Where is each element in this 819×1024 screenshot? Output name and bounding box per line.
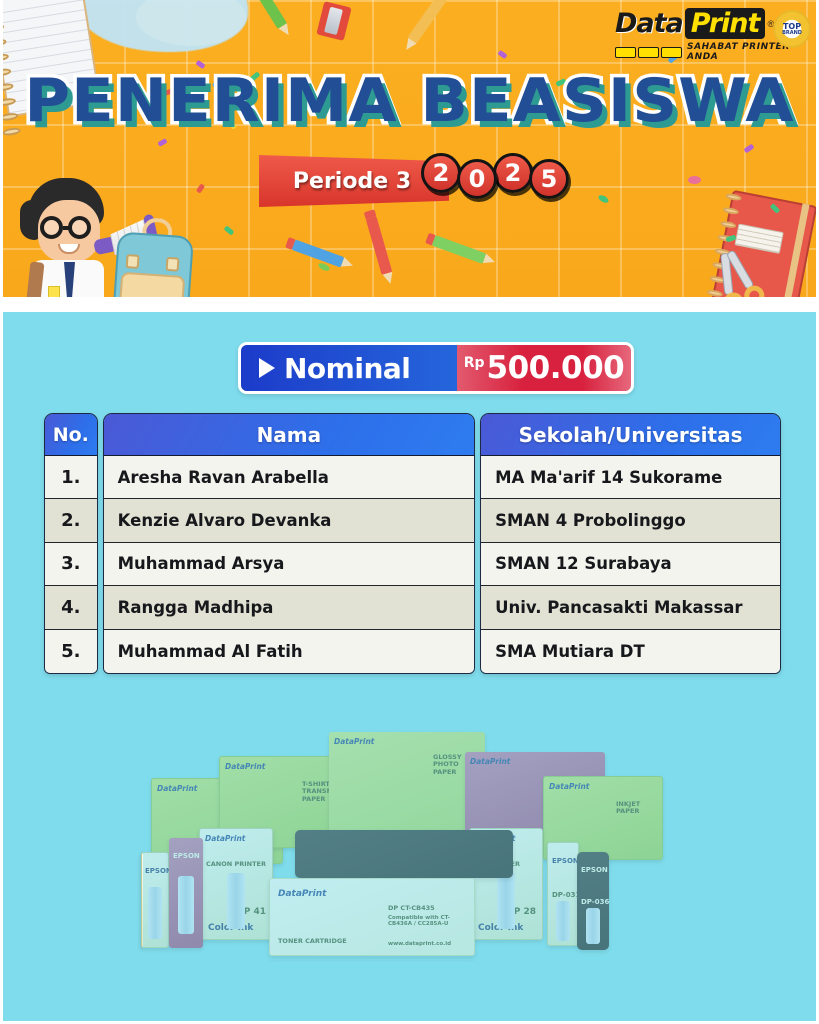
table-row: Univ. Pancasakti Makassar <box>481 586 780 629</box>
table-row: Aresha Ravan Arabella <box>104 456 474 499</box>
product-label: TONER CARTRIDGE <box>278 938 347 945</box>
nominal-amount-section: Rp 500.000 <box>457 345 631 391</box>
column-header-no: No. <box>45 414 97 456</box>
green-pencil-icon <box>247 0 287 29</box>
confetti-icon <box>743 144 754 154</box>
column-header-nama: Nama <box>104 414 474 456</box>
table-column-nama: Nama Aresha Ravan Arabella Kenzie Alvaro… <box>103 413 475 674</box>
logo-data-text: Data <box>615 8 683 39</box>
top-brand-badge-icon: TOP BRAND <box>773 10 811 48</box>
table-row: Muhammad Arsya <box>104 543 474 586</box>
year-digit: 0 <box>457 159 497 199</box>
logo-print-text: Print <box>685 8 766 39</box>
table-row: MA Ma'arif 14 Sukorame <box>481 456 780 499</box>
nominal-label-section: Nominal <box>241 345 457 391</box>
recipients-table: No. 1. 2. 3. 4. 5. Nama Aresha Ravan Ara… <box>44 413 781 674</box>
year-digits: 2 0 2 5 <box>421 153 565 193</box>
product-label: EPSON <box>173 852 200 860</box>
confetti-icon <box>597 194 610 205</box>
product-code: DP-036 <box>581 898 609 906</box>
confetti-icon <box>224 225 235 235</box>
header-divider <box>0 297 819 312</box>
table-row: SMAN 12 Surabaya <box>481 543 780 586</box>
nominal-amount: 500.000 <box>487 350 625 386</box>
period-badge: Periode 3 2 0 2 5 <box>259 153 559 209</box>
product-brand: DataPrint <box>225 762 265 771</box>
table-row: SMAN 4 Probolinggo <box>481 499 780 542</box>
year-digit: 5 <box>529 159 569 199</box>
green-pencil-icon-2 <box>432 235 487 264</box>
currency-symbol: Rp <box>464 355 485 371</box>
nominal-banner: Nominal Rp 500.000 <box>238 342 634 394</box>
scholarship-announcement-poster: PENERIMA BEASISWA Periode 3 2 0 2 5 Data… <box>0 0 819 1024</box>
product-url: www.dataprint.co.id <box>388 941 451 947</box>
dataprint-logo: Data Print ® SAHABAT PRINTER ANDA TOP BR… <box>615 8 805 60</box>
year-digit: 2 <box>421 153 461 193</box>
product-label: CANON PRINTER <box>206 861 266 868</box>
table-row: 1. <box>45 456 97 499</box>
play-triangle-icon <box>259 358 275 378</box>
product-label: INKJET PAPER <box>616 801 656 816</box>
year-digit: 2 <box>493 153 533 193</box>
table-row: 5. <box>45 630 97 673</box>
table-row: Rangga Madhipa <box>104 586 474 629</box>
product-label: EPSON <box>581 866 608 874</box>
product-brand: DataPrint <box>470 757 510 766</box>
header-banner: PENERIMA BEASISWA Periode 3 2 0 2 5 Data… <box>0 0 819 297</box>
page-title: PENERIMA BEASISWA <box>0 66 819 136</box>
pencil-sharpener-icon <box>316 1 351 41</box>
product-brand: DataPrint <box>278 889 326 899</box>
product-code: DP CT-CB435 <box>388 905 435 912</box>
cloud-decoration-icon <box>78 0 248 52</box>
toner-drum-photo <box>295 830 513 878</box>
eraser-icon <box>688 176 701 184</box>
period-label: Periode 3 <box>259 155 445 207</box>
column-header-sekolah: Sekolah/Universitas <box>481 414 780 456</box>
nominal-label: Nominal <box>284 352 410 385</box>
product-brand: DataPrint <box>157 784 197 793</box>
table-row: SMA Mutiara DT <box>481 630 780 673</box>
table-row: 2. <box>45 499 97 542</box>
product-lineup-photo: DataPrint STICKER GLOSSY PHOTO PAPER Dat… <box>143 710 673 960</box>
product-compat: Compatible with CT-CB436A / CC285A-U <box>388 915 470 928</box>
backpack-icon <box>109 213 199 297</box>
confetti-icon <box>157 138 167 147</box>
confetti-icon <box>497 50 507 59</box>
product-brand: DataPrint <box>205 834 245 843</box>
red-pencil-icon <box>366 216 393 275</box>
content-area: Nominal Rp 500.000 No. 1. 2. 3. 4. 5. Na… <box>3 312 816 1021</box>
top-brand-line2: BRAND <box>782 31 802 36</box>
product-brand: DataPrint <box>334 737 374 746</box>
table-row: Muhammad Al Fatih <box>104 630 474 673</box>
product-brand: DataPrint <box>549 782 589 791</box>
product-label: EPSON <box>552 857 579 865</box>
product-label: EPSON <box>145 867 172 875</box>
yellow-pencil-icon <box>408 0 455 44</box>
table-row: Kenzie Alvaro Devanka <box>104 499 474 542</box>
table-row: 4. <box>45 586 97 629</box>
table-row: 3. <box>45 543 97 586</box>
table-column-sekolah: Sekolah/Universitas MA Ma'arif 14 Sukora… <box>480 413 781 674</box>
table-column-no: No. 1. 2. 3. 4. 5. <box>44 413 98 674</box>
ink-bars-icon <box>615 47 682 58</box>
confetti-icon <box>196 183 205 193</box>
